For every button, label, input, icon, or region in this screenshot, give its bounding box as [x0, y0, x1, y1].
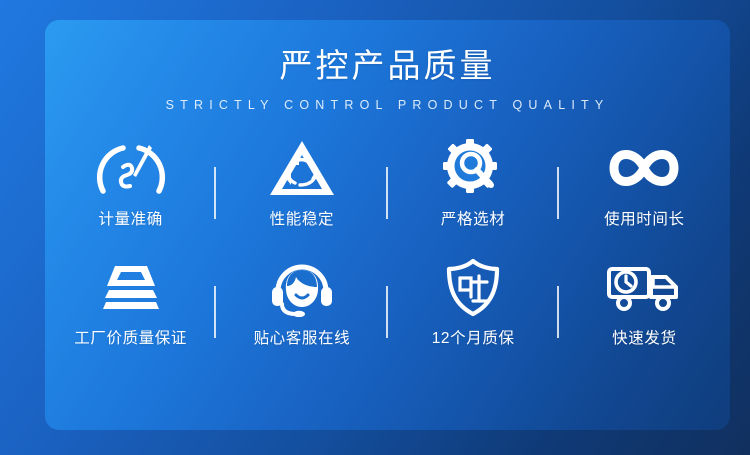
page-title: 严控产品质量 — [45, 46, 730, 86]
banner-inner-panel: 严控产品质量 STRICTLY CONTROL PRODUCT QUALITY … — [45, 20, 730, 430]
feature-row-1: 计量准确 性能稳定 — [45, 137, 730, 230]
feature-label: 性能稳定 — [270, 210, 334, 230]
feature-label: 计量准确 — [98, 210, 162, 230]
factory-layers-icon — [97, 256, 165, 318]
feature-item-factory-price-guarantee: 工厂价质量保证 — [45, 256, 216, 349]
banner-header: 严控产品质量 STRICTLY CONTROL PRODUCT QUALITY — [45, 20, 730, 113]
headset-support-icon — [270, 256, 334, 318]
feature-label: 使用时间长 — [604, 210, 685, 230]
recycle-triangle-icon — [269, 137, 335, 199]
feature-row-2: 工厂价质量保证 贴心客服在线 — [45, 256, 730, 349]
feature-item-12-month-warranty: 12个月质保 — [388, 256, 559, 349]
feature-label: 12个月质保 — [432, 329, 515, 349]
feature-label: 贴心客服在线 — [254, 329, 351, 349]
infinity-icon — [604, 137, 684, 199]
feature-item-measurement-accuracy: 计量准确 — [45, 137, 216, 230]
feature-label: 快速发货 — [612, 329, 676, 349]
feature-item-fast-shipping: 快速发货 — [559, 256, 730, 349]
feature-item-strict-material-selection: 严格选材 — [388, 137, 559, 230]
delivery-truck-icon — [606, 256, 682, 318]
quality-banner: 严控产品质量 STRICTLY CONTROL PRODUCT QUALITY … — [0, 0, 750, 455]
page-subtitle: STRICTLY CONTROL PRODUCT QUALITY — [45, 97, 730, 113]
feature-item-long-service-life: 使用时间长 — [559, 137, 730, 230]
gear-magnifier-icon — [441, 137, 505, 199]
feature-item-online-customer-service: 贴心客服在线 — [216, 256, 387, 349]
gauge-icon — [93, 137, 169, 199]
feature-item-stable-performance: 性能稳定 — [216, 137, 387, 230]
feature-label: 工厂价质量保证 — [74, 329, 187, 349]
shield-warranty-icon — [444, 256, 502, 318]
feature-label: 严格选材 — [441, 210, 505, 230]
